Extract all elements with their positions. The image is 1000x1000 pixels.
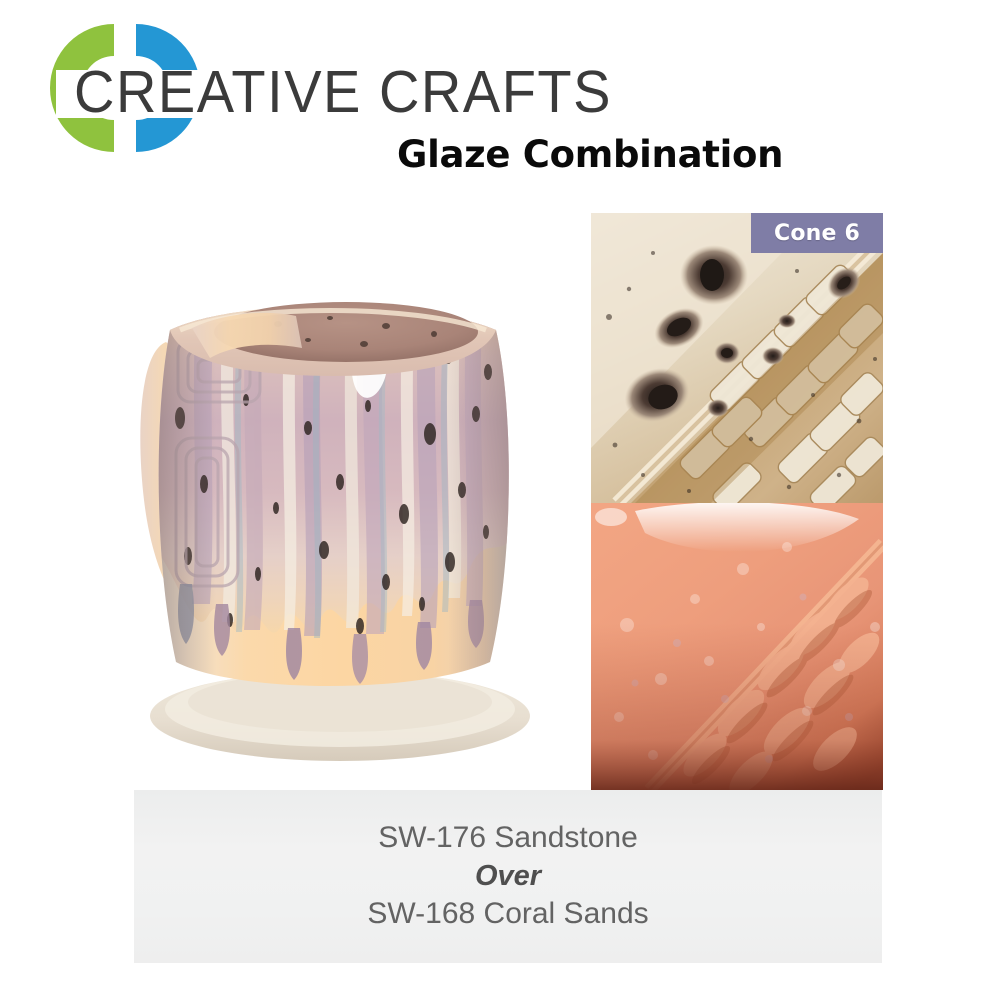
page-title: Glaze Combination bbox=[397, 133, 783, 176]
swatch-sandstone bbox=[591, 213, 883, 503]
mug-photo-canvas bbox=[118, 232, 588, 792]
caption-bottom-glaze: SW-168 Coral Sands bbox=[367, 895, 648, 933]
caption-top-glaze: SW-176 Sandstone bbox=[378, 819, 638, 857]
mug-photo bbox=[118, 232, 588, 792]
caption-band: SW-176 Sandstone Over SW-168 Coral Sands bbox=[134, 790, 882, 963]
swatch-coral-sands bbox=[591, 503, 883, 790]
glazed-mug-illustration bbox=[118, 232, 588, 792]
sandstone-tile-illustration bbox=[591, 213, 883, 503]
cone-badge-label: Cone 6 bbox=[774, 221, 860, 246]
glaze-swatch-column: Cone 6 bbox=[591, 213, 883, 790]
coral-sands-tile-illustration bbox=[591, 503, 883, 790]
glaze-combination-page: CREATIVE CRAFTS Glaze Combination bbox=[0, 0, 1000, 1000]
caption-connector: Over bbox=[475, 858, 541, 896]
brand-wordmark: CREATIVE CRAFTS bbox=[74, 62, 612, 121]
cone-badge: Cone 6 bbox=[751, 213, 883, 253]
